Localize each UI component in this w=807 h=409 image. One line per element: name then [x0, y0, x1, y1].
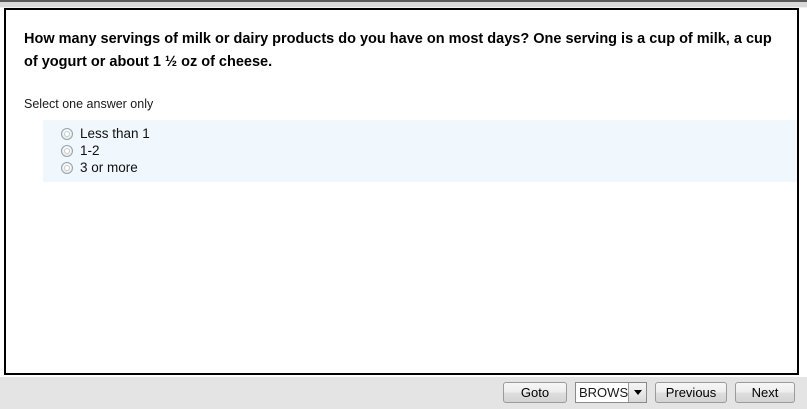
- radio-button-icon[interactable]: [61, 145, 73, 157]
- answer-option-label: 3 or more: [80, 159, 138, 176]
- navigation-controls: Goto BROWSE Previous Next: [503, 382, 795, 403]
- goto-button[interactable]: Goto: [503, 382, 567, 403]
- survey-question-page: How many servings of milk or dairy produ…: [0, 0, 807, 409]
- answer-options-group: Less than 1 1-2 3 or more: [43, 120, 797, 182]
- answer-option-1-2[interactable]: 1-2: [43, 142, 797, 159]
- chevron-down-icon[interactable]: [628, 383, 646, 402]
- answer-option-label: 1-2: [80, 142, 100, 159]
- answer-option-less-than-1[interactable]: Less than 1: [43, 125, 797, 142]
- previous-button[interactable]: Previous: [655, 382, 727, 403]
- mode-select[interactable]: BROWSE: [575, 382, 647, 403]
- radio-button-icon[interactable]: [61, 128, 73, 140]
- radio-button-icon[interactable]: [61, 162, 73, 174]
- answer-option-label: Less than 1: [80, 125, 150, 142]
- answer-instruction: Select one answer only: [24, 96, 153, 112]
- mode-select-value: BROWSE: [576, 383, 628, 402]
- next-button[interactable]: Next: [735, 382, 795, 403]
- question-text: How many servings of milk or dairy produ…: [24, 28, 774, 74]
- navigation-footer: Goto BROWSE Previous Next: [0, 377, 807, 409]
- answer-option-3-or-more[interactable]: 3 or more: [43, 159, 797, 176]
- question-panel: How many servings of milk or dairy produ…: [4, 8, 799, 375]
